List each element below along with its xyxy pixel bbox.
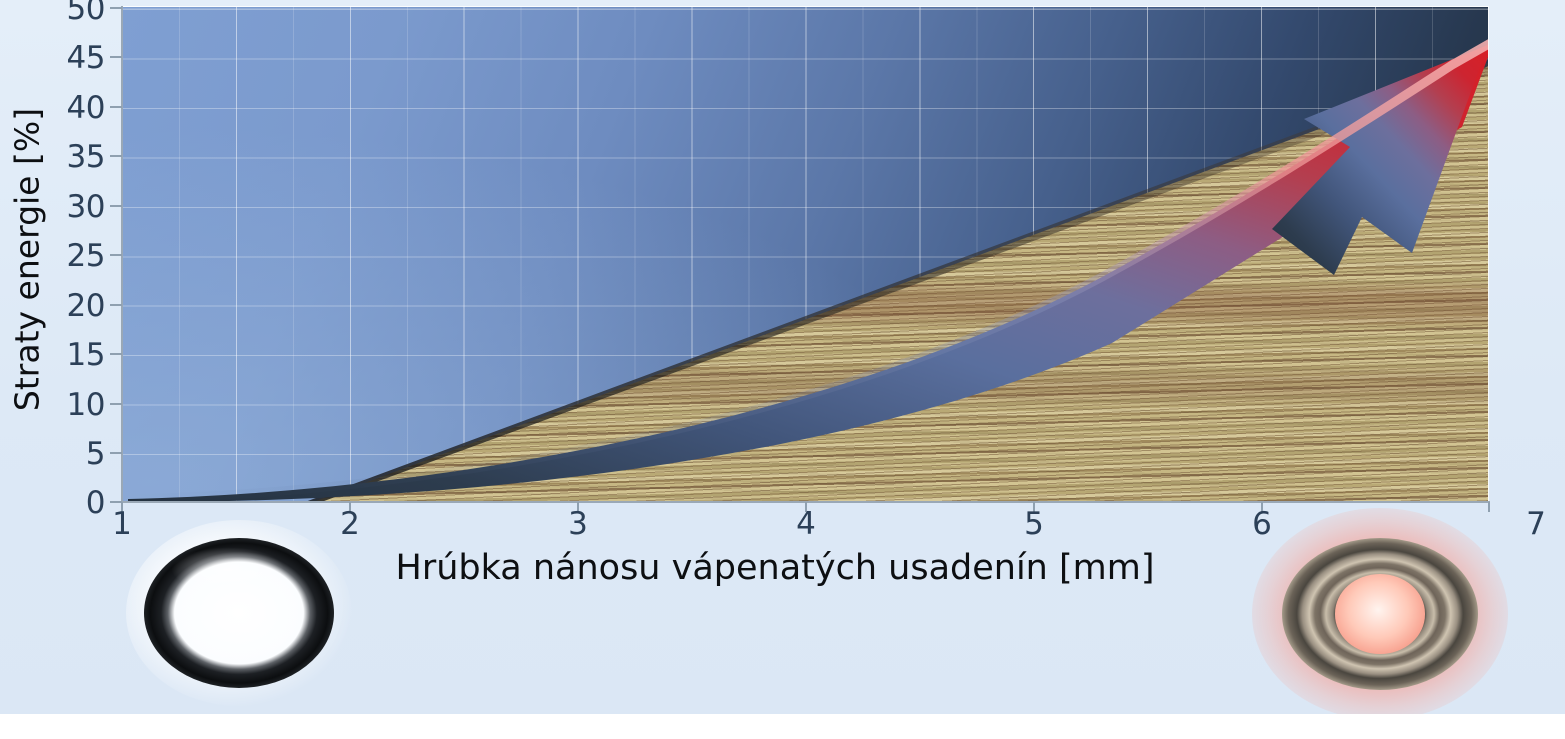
y-tick-mark bbox=[110, 106, 122, 108]
y-tick-label: 45 bbox=[5, 40, 105, 76]
y-tick-mark bbox=[110, 452, 122, 454]
x-tick-label: 4 bbox=[776, 506, 836, 542]
y-tick-label: 0 bbox=[5, 485, 105, 521]
y-axis-label: Straty energie [%] bbox=[8, 80, 47, 440]
x-tick-label: 6 bbox=[1232, 506, 1292, 542]
y-tick-mark bbox=[110, 304, 122, 306]
y-tick-mark bbox=[110, 155, 122, 157]
y-tick-mark bbox=[110, 56, 122, 58]
y-tick-label: 5 bbox=[5, 436, 105, 472]
x-axis-label: Hrúbka nánosu vápenatých usadenín [mm] bbox=[385, 548, 1165, 588]
bottom-white-strip bbox=[0, 714, 1565, 739]
scaled-pipe-cross-section-icon bbox=[1282, 538, 1478, 690]
x-tick-label: 5 bbox=[1004, 506, 1064, 542]
x-tick-label: 2 bbox=[320, 506, 380, 542]
y-tick-mark bbox=[110, 403, 122, 405]
clean-pipe-cross-section-icon bbox=[144, 538, 334, 688]
x-tick-mark bbox=[1488, 502, 1490, 512]
x-tick-label: 1 bbox=[92, 506, 152, 542]
plot-area bbox=[122, 7, 1488, 502]
x-tick-label: 3 bbox=[548, 506, 608, 542]
y-tick-mark bbox=[110, 254, 122, 256]
chart-figure: 50 45 40 35 30 25 20 15 10 5 0 1 2 3 4 5… bbox=[0, 0, 1565, 739]
clean-pipe-highlight bbox=[171, 547, 285, 592]
scaled-pipe-core bbox=[1335, 574, 1425, 653]
y-tick-mark bbox=[110, 7, 122, 9]
y-tick-label: 50 bbox=[5, 0, 105, 27]
y-tick-mark bbox=[110, 353, 122, 355]
y-tick-mark bbox=[110, 205, 122, 207]
x-tick-label: 7 bbox=[1506, 506, 1565, 542]
